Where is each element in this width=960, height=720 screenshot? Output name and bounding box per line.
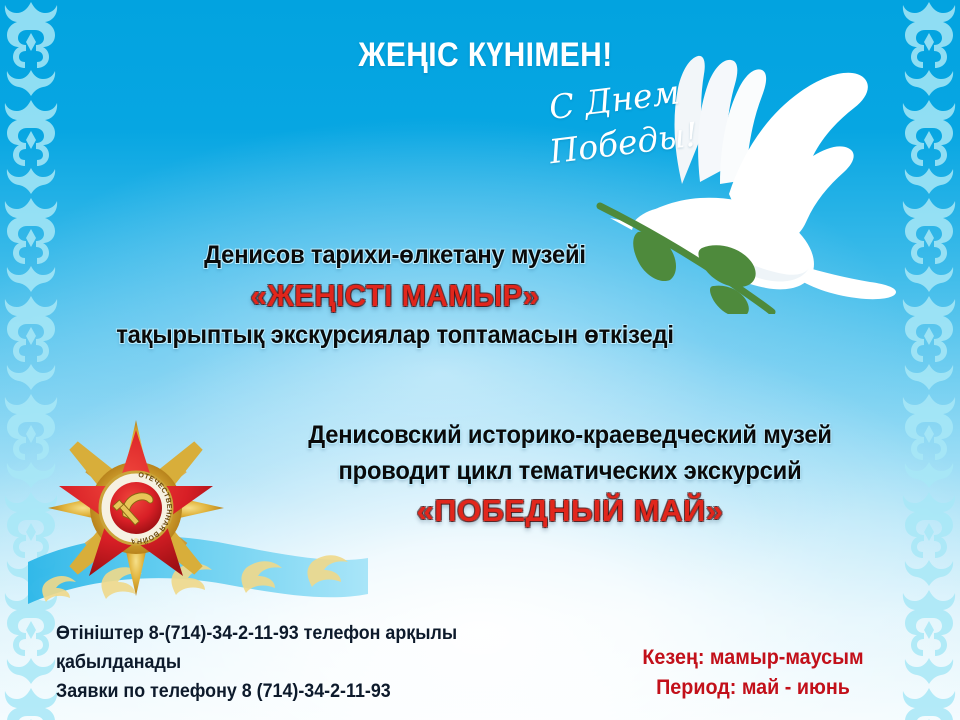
contact-line-russian: Заявки по телефону 8 (714)-34-2-11-93	[56, 678, 498, 707]
contact-line-kazakh-1: Өтініштер 8-(714)-34-2-11-93 телефон арқ…	[56, 620, 498, 649]
announcement-kazakh: Денисов тарихи-өлкетану музейі «ЖЕҢІСТІ …	[0, 238, 790, 353]
period-info: Кезең: мамыр-маусым Период: май - июнь	[617, 643, 890, 704]
announcement-kazakh-line1: Денисов тарихи-өлкетану музейі	[20, 238, 771, 274]
announcement-russian-program-title: «ПОБЕДНЫЙ МАЙ»	[180, 489, 960, 533]
contact-info: Өтініштер 8-(714)-34-2-11-93 телефон арқ…	[56, 620, 498, 707]
announcement-russian: Денисовский историко-краеведческий музей…	[180, 418, 960, 533]
period-line-russian: Период: май - июнь	[617, 673, 890, 703]
announcement-russian-line2: проводит цикл тематических экскурсий	[200, 454, 941, 490]
announcement-kazakh-program-title: «ЖЕҢІСТІ МАМЫР»	[20, 274, 771, 318]
period-line-kazakh: Кезең: мамыр-маусым	[617, 643, 890, 673]
poster-title-kazakh-text: ЖЕҢІС КҮНІМЕН!	[358, 36, 612, 75]
announcement-russian-line1: Денисовский историко-краеведческий музей	[200, 418, 941, 454]
contact-line-kazakh-2: қабылданады	[56, 649, 498, 678]
announcement-kazakh-line3: тақырыптық экскурсиялар топтамасын өткіз…	[20, 318, 771, 354]
poster-title-kazakh: ЖЕҢІС КҮНІМЕН!	[0, 36, 960, 75]
victory-day-poster: ОТЕЧЕСТВЕННАЯ ВОЙНА ЖЕҢІС КҮНІМЕН! С Дне…	[0, 0, 960, 720]
